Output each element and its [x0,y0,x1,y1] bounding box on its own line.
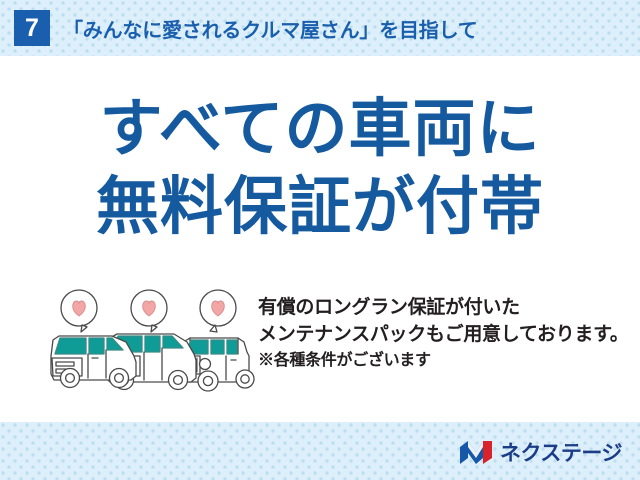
content-row: 有償のロングラン保証が付いた メンテナンスパックもご用意しております。 ※各種条… [0,286,640,406]
body-copy-line-2: メンテナンスパックもご用意しております。 [258,321,636,348]
header: 7 「みんなに愛されるクルマ屋さん」を目指して [0,0,640,56]
body-copy-line-1: 有償のロングラン保証が付いた [258,294,636,321]
heart-bubble-right-group [200,290,236,332]
step-number-badge: 7 [14,10,50,46]
brand-name: ネクステージ [500,437,622,467]
header-title: 「みんなに愛されるクルマ屋さん」を目指して [63,14,478,43]
three-cars-illustration [48,286,256,398]
car-kei-box-van [51,336,136,388]
body-copy-note: ※各種条件がございます [258,348,636,374]
headline-line-2: 無料保証が付帯 [0,168,640,246]
headline: すべての車両に 無料保証が付帯 [0,90,640,246]
body-copy: 有償のロングラン保証が付いた メンテナンスパックもご用意しております。 ※各種条… [258,294,636,374]
heart-bubble-center-group [131,290,167,332]
advertisement-banner: 7 「みんなに愛されるクルマ屋さん」を目指して すべての車両に 無料保証が付帯 [0,0,640,480]
headline-line-1: すべての車両に [0,90,640,168]
brand-logo: ネクステージ [459,438,622,466]
nextage-n-mark [459,440,493,465]
heart-bubble-left-group [61,290,97,332]
